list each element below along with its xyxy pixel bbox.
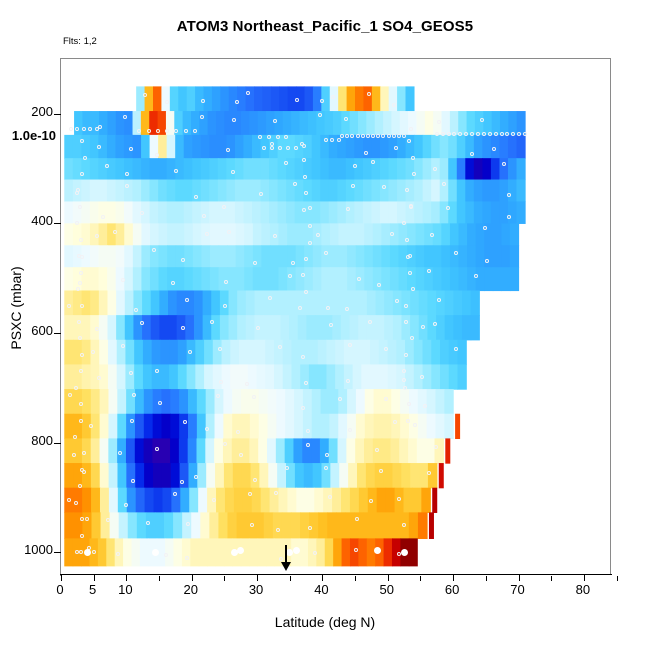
observation-marker [97, 376, 101, 380]
y-tick-200 [54, 114, 61, 115]
y-tick-label-200: 200 [7, 104, 53, 119]
observation-marker [470, 132, 474, 136]
x-tick-label-30: 30 [233, 582, 279, 597]
observation-marker [402, 134, 406, 138]
heatmap-canvas [61, 59, 610, 574]
x-tick-label-20: 20 [168, 582, 214, 597]
x-tick-60 [453, 574, 454, 581]
observation-marker [411, 287, 415, 291]
y-tick-400 [54, 223, 61, 224]
y-axis-line [60, 58, 61, 576]
observation-marker [306, 429, 310, 433]
observation-marker [304, 257, 308, 261]
observation-marker [300, 142, 304, 146]
x-tick-20 [192, 574, 193, 581]
x-tick-70 [519, 574, 520, 581]
observation-marker [395, 299, 399, 303]
observation-marker [80, 304, 84, 308]
observation-marker [268, 296, 272, 300]
observation-marker [361, 134, 365, 138]
observation-marker [80, 353, 84, 357]
observation-marker [482, 132, 486, 136]
observation-marker [83, 156, 87, 160]
observation-marker [306, 443, 310, 447]
observation-marker [447, 132, 451, 136]
observation-marker [376, 134, 380, 138]
observation-marker [390, 232, 394, 236]
observation-marker [226, 148, 230, 152]
observation-marker [474, 274, 478, 278]
observation-marker [262, 146, 266, 150]
observation-marker [485, 259, 489, 263]
observation-marker [84, 549, 91, 556]
observation-marker [171, 281, 175, 285]
observation-marker [338, 397, 342, 401]
x-tick-label-60: 60 [429, 582, 475, 597]
observation-marker [174, 169, 178, 173]
x-axis-title: Latitude (deg N) [0, 614, 650, 630]
observation-marker [464, 132, 468, 136]
observation-marker [433, 322, 437, 326]
observation-marker [387, 134, 391, 138]
observation-marker [164, 553, 168, 557]
observation-marker [304, 290, 308, 294]
x-tick-80 [584, 574, 585, 581]
observation-marker [76, 287, 80, 291]
observation-marker [470, 152, 474, 156]
x-minor-tick-25 [224, 576, 225, 581]
observation-marker [403, 386, 407, 390]
observation-marker [454, 347, 458, 351]
observation-marker [505, 132, 509, 136]
observation-marker [210, 320, 214, 324]
observation-marker [411, 156, 415, 160]
x-tick-label-10: 10 [102, 582, 148, 597]
observation-marker [75, 550, 79, 554]
observation-marker [392, 103, 396, 107]
observation-marker [80, 534, 84, 538]
observation-marker [77, 320, 81, 324]
observation-marker [181, 258, 185, 262]
observation-marker [286, 146, 290, 150]
y-tick-1000 [54, 552, 61, 553]
observation-marker [140, 321, 144, 325]
observation-marker [371, 134, 375, 138]
plot-frame [60, 58, 611, 575]
observation-marker [340, 134, 344, 138]
observation-marker [308, 241, 312, 245]
observation-marker [82, 127, 86, 131]
observation-marker [134, 308, 138, 312]
x-tick-5 [94, 574, 95, 581]
observation-marker [377, 283, 381, 287]
colorscale-max-wrap: 1.0e-10 [0, 128, 56, 146]
arrow-head [281, 562, 291, 571]
flights-label: Flts: 1,2 [63, 36, 97, 47]
observation-marker [351, 184, 355, 188]
observation-marker [404, 353, 408, 357]
observation-marker [101, 215, 105, 219]
observation-marker [348, 428, 352, 432]
observation-marker [364, 151, 368, 155]
observation-marker [69, 127, 73, 131]
x-minor-tick-15 [159, 576, 160, 581]
observation-marker [345, 134, 349, 138]
observation-marker [357, 277, 361, 281]
observation-marker [402, 523, 406, 527]
x-minor-tick-65 [486, 576, 487, 581]
observation-marker [346, 207, 350, 211]
plot-root: ATOM3 Northeast_Pacific_1 SO4_GEOS5 Flts… [0, 0, 650, 650]
observation-marker [95, 327, 99, 331]
colorscale-max-label: 1.0e-10 [12, 128, 56, 143]
observation-marker [129, 371, 133, 375]
observation-marker [494, 132, 498, 136]
observation-marker [434, 445, 438, 449]
y-tick-600 [54, 333, 61, 334]
x-tick-40 [322, 574, 323, 581]
observation-marker [303, 175, 307, 179]
observation-marker [435, 132, 439, 136]
observation-marker [523, 132, 527, 136]
observation-marker [441, 132, 445, 136]
observation-marker [158, 401, 162, 405]
observation-marker [405, 238, 409, 242]
observation-marker [152, 549, 159, 556]
observation-marker [517, 132, 521, 136]
observation-marker [80, 172, 84, 176]
observation-marker [325, 453, 329, 457]
observation-marker [68, 393, 72, 397]
observation-marker [401, 549, 408, 556]
x-minor-tick-85 [617, 576, 618, 581]
observation-marker [408, 254, 412, 258]
observation-marker [256, 326, 260, 330]
observation-marker [442, 182, 446, 186]
y-tick-label-1000: 1000 [7, 542, 53, 557]
y-axis-title: PSXC (mbar) [8, 218, 24, 398]
x-tick-label-80: 80 [560, 582, 606, 597]
observation-marker [212, 498, 216, 502]
x-tick-0 [61, 574, 62, 581]
observation-marker [79, 419, 83, 423]
observation-marker [185, 298, 189, 302]
observation-marker [488, 132, 492, 136]
observation-marker [106, 518, 110, 522]
observation-marker [420, 375, 424, 379]
observation-marker [79, 369, 83, 373]
observation-marker [308, 526, 312, 530]
observation-marker [165, 100, 169, 104]
observation-marker [288, 274, 292, 278]
observation-marker [250, 523, 254, 527]
observation-marker [500, 132, 504, 136]
observation-marker [227, 230, 231, 234]
observation-marker [67, 304, 71, 308]
observation-marker [402, 378, 406, 382]
observation-marker [318, 113, 322, 117]
observation-marker [125, 184, 129, 188]
observation-marker [279, 557, 283, 561]
observation-marker [173, 492, 177, 496]
x-tick-label-70: 70 [495, 582, 541, 597]
observation-marker [337, 138, 341, 142]
x-minor-tick-35 [290, 576, 291, 581]
observation-marker [366, 134, 370, 138]
observation-marker [79, 550, 83, 554]
y-tick-800 [54, 443, 61, 444]
x-minor-tick-55 [420, 576, 421, 581]
observation-marker [354, 548, 358, 552]
observation-marker [92, 550, 96, 554]
x-tick-50 [388, 574, 389, 581]
observation-marker [278, 146, 282, 150]
observation-marker [105, 164, 109, 168]
observation-marker [458, 132, 462, 136]
x-minor-tick-75 [551, 576, 552, 581]
observation-marker [78, 205, 82, 209]
observation-marker [382, 185, 386, 189]
observation-marker [259, 192, 263, 196]
observation-marker [205, 232, 209, 236]
observation-marker [304, 191, 308, 195]
x-tick-30 [257, 574, 258, 581]
observation-marker [356, 134, 360, 138]
page-title: ATOM3 Northeast_Pacific_1 SO4_GEOS5 [0, 18, 650, 35]
observation-marker [324, 138, 328, 142]
observation-marker [232, 118, 236, 122]
y-tick-label-800: 800 [7, 433, 53, 448]
observation-marker [245, 382, 249, 386]
observation-marker [79, 402, 83, 406]
observation-marker [308, 224, 312, 228]
observation-marker [97, 145, 101, 149]
observation-marker [188, 350, 192, 354]
observation-marker [353, 164, 357, 168]
observation-marker [348, 343, 352, 347]
observation-marker [393, 420, 397, 424]
observation-marker [492, 147, 496, 151]
observation-marker [155, 447, 159, 451]
observation-marker [406, 419, 410, 423]
observation-marker [404, 320, 408, 324]
observation-marker [123, 115, 127, 119]
observation-marker [409, 127, 413, 131]
observation-marker [476, 132, 480, 136]
observation-marker [392, 134, 396, 138]
x-tick-10 [126, 574, 127, 581]
x-axis-line [60, 574, 612, 575]
observation-marker [140, 211, 144, 215]
observation-marker [152, 248, 156, 252]
observation-marker [202, 214, 206, 218]
observation-marker [270, 146, 274, 150]
observation-marker [329, 323, 333, 327]
observation-marker [330, 138, 334, 142]
observation-marker [511, 132, 515, 136]
x-tick-label-50: 50 [364, 582, 410, 597]
x-minor-tick-45 [355, 576, 356, 581]
observation-marker [91, 350, 95, 354]
observation-marker [79, 271, 83, 275]
observation-marker [79, 238, 83, 242]
observation-marker [433, 167, 437, 171]
observation-marker [480, 118, 484, 122]
observation-marker [397, 134, 401, 138]
observation-marker [80, 517, 84, 521]
observation-marker [408, 271, 412, 275]
observation-marker [80, 468, 84, 472]
x-tick-label-40: 40 [298, 582, 344, 597]
observation-marker [430, 233, 434, 237]
observation-marker [118, 451, 122, 455]
